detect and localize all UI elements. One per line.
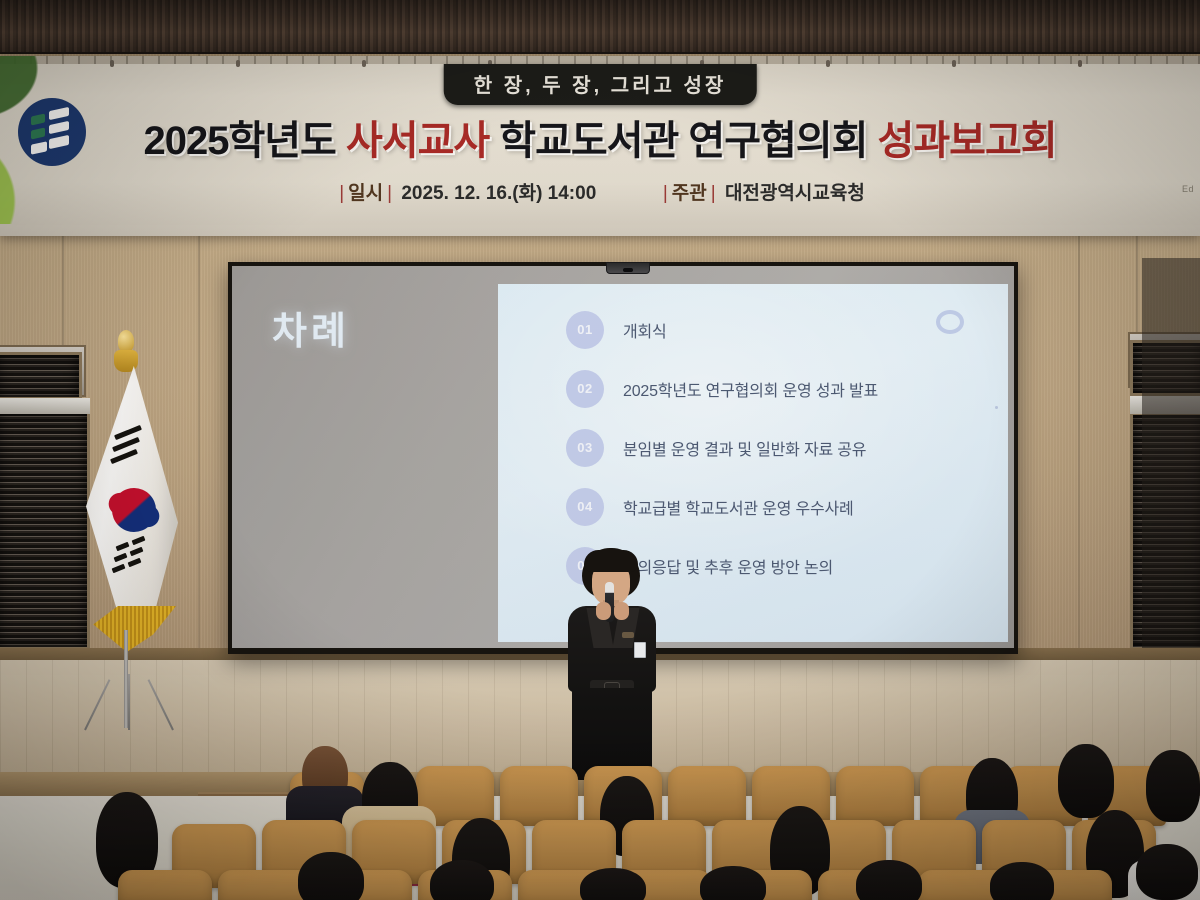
flag-finial-icon <box>118 330 134 352</box>
agenda-item: 01 개회식 <box>566 300 996 359</box>
audience-head <box>1058 744 1114 818</box>
agenda-item-label: 학교급별 학교도서관 운영 우수사례 <box>623 495 854 519</box>
slide-title: 차례 <box>272 300 350 355</box>
audience-head <box>990 862 1054 900</box>
agenda-number-badge: 02 <box>566 370 604 408</box>
banner-title-part-1: 2025학년도 <box>143 119 335 163</box>
banner-pin <box>952 60 956 67</box>
agenda-item-label: 개회식 <box>623 318 667 342</box>
banner-host-label: 주관 <box>672 183 707 204</box>
audience-head <box>1136 844 1198 900</box>
auditorium-seat <box>118 870 212 900</box>
conference-hall-photo: 한 장, 두 장, 그리고 성장 2025학년도 사서교사 학교도서관 연구협의… <box>0 0 1200 900</box>
flag-tripod-legs <box>76 674 184 730</box>
presenter-hand-left <box>596 602 611 620</box>
banner-date-label: 일시 <box>348 183 383 204</box>
banner-title-part-4: 성과보고회 <box>878 119 1057 163</box>
presenter-hair-fringe <box>584 550 638 572</box>
event-banner: 한 장, 두 장, 그리고 성장 2025학년도 사서교사 학교도서관 연구협의… <box>0 56 1200 236</box>
banner-title-part-2: 사서교사 <box>346 119 489 163</box>
banner-tagline: 한 장, 두 장, 그리고 성장 <box>444 64 757 105</box>
auditorium-seat <box>836 766 914 826</box>
presenter-wristwatch <box>622 632 634 638</box>
korean-flag-stand <box>70 330 190 730</box>
banner-mount-rail <box>0 56 1200 64</box>
tripod-leg <box>148 679 174 730</box>
presenter-name-badge <box>634 642 646 658</box>
agenda-number-badge: 04 <box>566 488 604 526</box>
audience-head <box>430 860 494 900</box>
audience-seating-area <box>0 740 1200 900</box>
banner-pin <box>362 60 366 67</box>
presenter-hand-right <box>614 602 629 620</box>
agenda-number-badge: 01 <box>566 311 604 349</box>
agenda-item-label: 분임별 운영 결과 및 일반화 자료 공유 <box>623 436 866 460</box>
agenda-item: 04 학교급별 학교도서관 운영 우수사례 <box>566 477 996 536</box>
banner-pin <box>236 60 240 67</box>
banner-pin <box>826 60 830 67</box>
flag-gold-fringe <box>88 606 176 652</box>
ceiling-shadow <box>0 0 1200 54</box>
banner-corner-mark: Ed <box>1182 184 1194 194</box>
banner-host-value: 대전광역시교육청 <box>725 183 865 204</box>
banner-pin <box>1078 60 1082 67</box>
banner-date-value: 2025. 12. 16.(화) 14:00 <box>401 183 596 204</box>
agenda-item: 02 2025학년도 연구협의회 운영 성과 발표 <box>566 359 996 418</box>
agenda-number-badge: 03 <box>566 429 604 467</box>
audience-head <box>580 868 646 900</box>
audience-head <box>1146 750 1200 822</box>
banner-title: 2025학년도 사서교사 학교도서관 연구협의회 성과보고회 <box>0 108 1200 166</box>
wall-dark-recess-right <box>1142 258 1200 660</box>
banner-title-part-3: 학교도서관 연구협의회 <box>499 119 867 163</box>
auditorium-seat <box>668 766 746 826</box>
camera-sensor-icon <box>606 262 650 274</box>
audience-head <box>700 866 766 900</box>
agenda-item: 03 분임별 운영 결과 및 일반화 자료 공유 <box>566 418 996 477</box>
auditorium-seat <box>500 766 578 826</box>
audience-head <box>298 852 364 900</box>
tripod-leg <box>128 674 130 730</box>
banner-subline: |일시| 2025. 12. 16.(화) 14:00 |주관| 대전광역시교육… <box>0 178 1200 205</box>
agenda-item-label: 2025학년도 연구협의회 운영 성과 발표 <box>623 377 878 401</box>
audience-head <box>856 860 922 900</box>
tripod-leg <box>84 679 110 730</box>
